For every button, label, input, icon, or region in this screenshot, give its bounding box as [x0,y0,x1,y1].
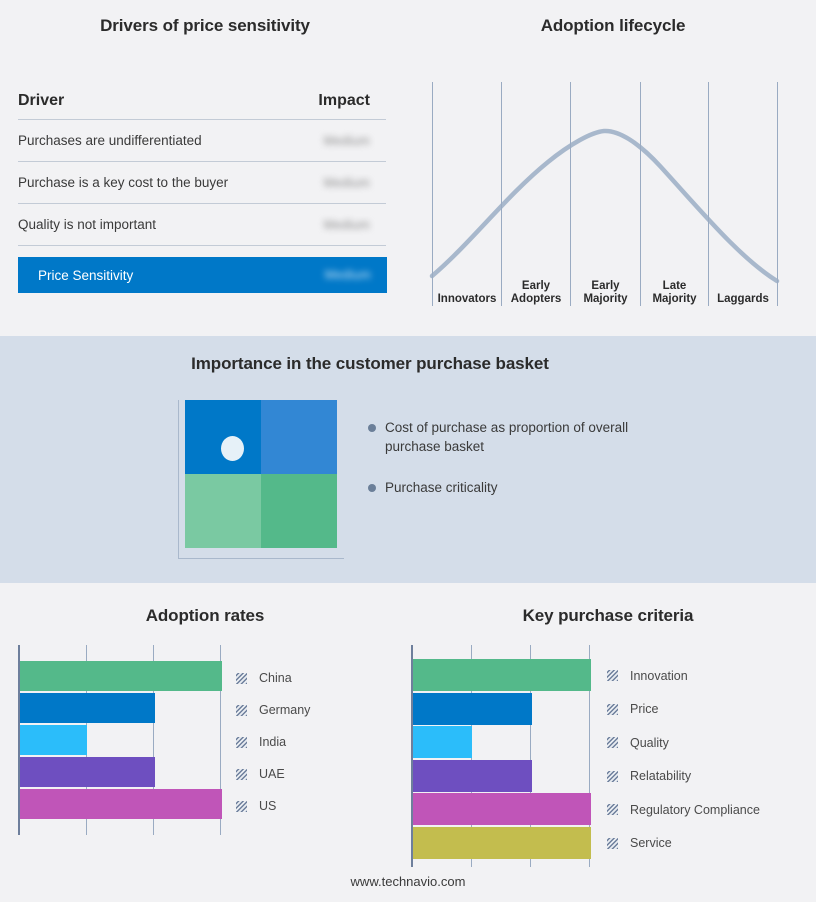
bar-germany [20,693,155,723]
driver-label: Quality is not important [18,217,156,232]
key-purchase-criteria-chart: InnovationPriceQualityRelatabilityRegula… [411,645,811,867]
criteria-plot-area [411,645,592,867]
legend-swatch-icon [236,705,247,716]
adoption-lifecycle-chart: Innovators EarlyAdopters EarlyMajority L… [410,76,816,308]
legend-swatch-icon [607,670,618,681]
lifecycle-divider [432,82,433,306]
lifecycle-stage-laggards: Laggards [709,293,777,306]
column-header-impact: Impact [318,92,386,110]
drivers-panel-title: Drivers of price sensitivity [0,16,410,36]
legend-swatch-icon [607,804,618,815]
quadrant-y-axis [178,400,179,559]
legend-item: Innovation [607,659,760,693]
lifecycle-divider [777,82,778,306]
legend-item: Purchase criticality [368,478,658,497]
quadrant-top-right [261,400,337,474]
bar-uae [20,757,155,787]
adoption-rates-title: Adoption rates [0,606,410,626]
driver-label: Purchases are undifferentiated [18,133,202,148]
bar-china [20,661,222,691]
legend-item: Quality [607,726,760,760]
lifecycle-curve [410,76,816,308]
legend-item: Service [607,827,760,861]
legend-item: Cost of purchase as proportion of overal… [368,418,658,456]
quadrant-grid [185,400,337,548]
quadrant-bottom-right [261,474,337,548]
drivers-table-header: Driver Impact [18,92,386,120]
legend-label: China [259,671,292,685]
bar-quality [413,726,472,758]
legend-swatch-icon [607,704,618,715]
infographic-page: Drivers of price sensitivity Driver Impa… [0,0,816,902]
legend-item: Germany [236,694,310,726]
lifecycle-panel-title: Adoption lifecycle [410,16,816,36]
quadrant-x-axis [178,558,344,559]
impact-value-redacted: Medium [324,176,386,190]
legend-label: Purchase criticality [385,478,498,497]
legend-swatch-icon [236,737,247,748]
driver-label: Purchase is a key cost to the buyer [18,175,228,190]
bar-service [413,827,591,859]
bullet-icon [368,424,376,432]
legend-item: Price [607,693,760,727]
lifecycle-divider [708,82,709,306]
legend-label: Service [630,836,672,850]
position-marker [221,436,244,461]
legend-swatch-icon [607,771,618,782]
lifecycle-divider [640,82,641,306]
basket-panel-title: Importance in the customer purchase bask… [0,354,740,374]
lifecycle-stage-late-majority: LateMajority [641,280,708,306]
legend-swatch-icon [236,673,247,684]
legend-item: China [236,662,310,694]
impact-value-redacted: Medium [324,218,386,232]
bullet-icon [368,484,376,492]
legend-label: Quality [630,736,669,750]
legend-label: Relatability [630,769,691,783]
bar-regulatory-compliance [413,793,591,825]
legend-label: Germany [259,703,310,717]
legend-item: Relatability [607,760,760,794]
column-header-driver: Driver [18,92,64,110]
table-row: Purchases are undifferentiated Medium [18,120,386,162]
key-purchase-criteria-title: Key purchase criteria [400,606,816,626]
footer-watermark: www.technavio.com [0,874,816,889]
adoption-legend: ChinaGermanyIndiaUAEUS [236,662,310,822]
basket-legend: Cost of purchase as proportion of overal… [368,418,658,519]
summary-label: Price Sensitivity [38,268,133,283]
lifecycle-divider [501,82,502,306]
summary-impact-redacted: Medium [325,268,387,282]
lifecycle-divider [570,82,571,306]
legend-swatch-icon [607,737,618,748]
legend-item: UAE [236,758,310,790]
quadrant-bottom-left [185,474,261,548]
bar-india [20,725,87,755]
legend-swatch-icon [607,838,618,849]
price-sensitivity-summary-row: Price Sensitivity Medium [18,257,387,293]
legend-label: Innovation [630,669,688,683]
legend-swatch-icon [236,801,247,812]
adoption-rates-chart: ChinaGermanyIndiaUAEUS [18,645,398,835]
legend-label: Cost of purchase as proportion of overal… [385,418,658,456]
bar-price [413,693,532,725]
legend-item: Regulatory Compliance [607,793,760,827]
legend-item: US [236,790,310,822]
lifecycle-stage-innovators: Innovators [433,293,501,306]
quadrant-top-left [185,400,261,474]
table-row: Purchase is a key cost to the buyer Medi… [18,162,386,204]
legend-swatch-icon [236,769,247,780]
impact-value-redacted: Medium [324,134,386,148]
bar-us [20,789,222,819]
legend-label: Regulatory Compliance [630,803,760,817]
adoption-plot-area [18,645,222,835]
legend-label: India [259,735,286,749]
legend-label: UAE [259,767,285,781]
criteria-legend: InnovationPriceQualityRelatabilityRegula… [607,659,760,860]
lifecycle-stage-early-adopters: EarlyAdopters [502,280,570,306]
legend-label: US [259,799,276,813]
drivers-table: Driver Impact Purchases are undifferenti… [18,92,386,293]
bar-innovation [413,659,591,691]
lifecycle-stage-early-majority: EarlyMajority [571,280,640,306]
table-row: Quality is not important Medium [18,204,386,246]
bar-relatability [413,760,532,792]
legend-label: Price [630,702,658,716]
legend-item: India [236,726,310,758]
